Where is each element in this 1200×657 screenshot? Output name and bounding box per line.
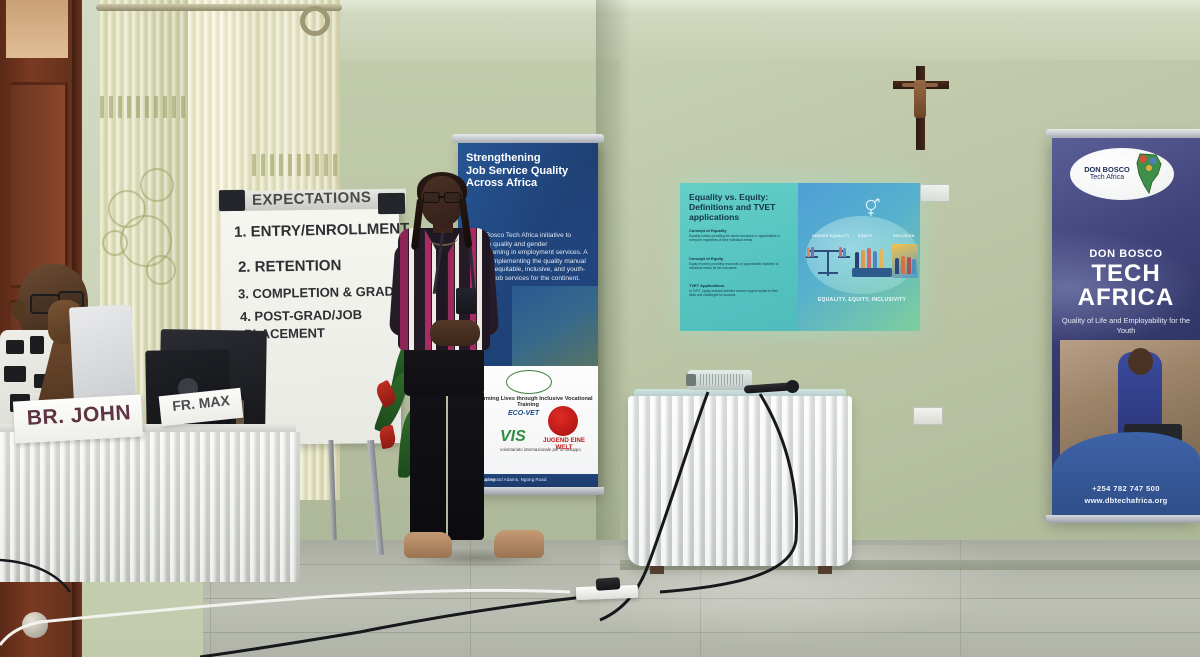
partner-logo-ecovet: ECO-VET <box>508 410 539 417</box>
door-panel-upper <box>8 82 68 288</box>
banner-left-title-2: Job Service Quality <box>466 165 594 178</box>
crucifix-corpus-arms <box>902 83 938 87</box>
partner-logo-vis: VIS <box>500 428 526 446</box>
projector-vent <box>700 374 744 385</box>
banner-left-top-rail <box>452 134 604 143</box>
presenter-leg-left <box>410 388 446 540</box>
slide-heading-3: TVET Applications <box>689 283 724 288</box>
wall-socket-lower[interactable] <box>913 407 943 425</box>
banner-right-headline-africa: AFRICA <box>1052 286 1200 310</box>
power-plug[interactable] <box>596 577 621 591</box>
logo-line-2: Tech Africa <box>1076 174 1138 181</box>
presenter-badge <box>456 288 476 314</box>
slide-heading-2: Concept of Equity <box>689 256 723 261</box>
slide-heading-1: Concept of Equality <box>689 228 727 233</box>
presenter-hands <box>430 320 480 346</box>
banner-right-headline-small: DON BOSCO <box>1052 248 1200 260</box>
microphone-head <box>786 380 799 393</box>
banner-left-address: Applewood Adams, Ngong Road <box>480 477 546 482</box>
participant-ear <box>12 300 26 320</box>
door-transom-window <box>6 0 68 58</box>
banner-right-website: www.dbtechafrica.org <box>1052 496 1200 505</box>
flipchart-line-2: 2. RETENTION <box>238 257 342 276</box>
curtain-rod-ring <box>300 6 330 36</box>
flipchart-clamp-left <box>219 190 245 211</box>
banner-right-phone: +254 782 747 500 <box>1052 484 1200 493</box>
photo-scene: EXPECTATIONS 1. ENTRY/ENROLLMENT 2. RETE… <box>0 0 1200 657</box>
banner-left-title: Strengthening Job Service Quality Across… <box>466 152 594 190</box>
slide-caption: EQUALITY, EQUITY, INCLUSIVITY <box>806 297 918 303</box>
slide-label-inclusion: INCLUSION <box>893 234 915 238</box>
banner-right-bottom-curve <box>1052 432 1200 521</box>
banner-right-headline-tech: TECH <box>1052 262 1200 286</box>
slide-body-1: Equality means providing the same resour… <box>689 234 785 243</box>
presenter-boot-left <box>404 532 452 558</box>
slide-equity-platform <box>852 268 892 277</box>
banner-right-base <box>1046 515 1200 523</box>
slide-title: Equality vs. Equity: Definitions and TVE… <box>689 192 793 222</box>
don-bosco-tech-logo-small <box>506 370 552 394</box>
partner-logo-jugend-label: JUGEND EINE WELT <box>540 437 588 452</box>
presenter-glasses <box>423 192 461 202</box>
slide-body-2: Equity involves providing resources or o… <box>689 262 785 271</box>
door-knob[interactable] <box>22 612 48 638</box>
presenter-boot-right <box>494 530 544 558</box>
africa-map-icon <box>1130 152 1168 196</box>
slide-label-equity: EQUITY <box>858 234 873 238</box>
flipchart-line-3: 3. COMPLETION & GRAD <box>238 284 394 302</box>
banner-right-top-rail <box>1046 129 1200 138</box>
projector-lens <box>686 374 696 386</box>
slide-body-3: In TVET, equity ensures learners receive… <box>689 289 785 298</box>
participant-table-pleats <box>0 432 300 582</box>
projector-table-skirt-pleats <box>628 396 852 566</box>
banner-right-tagline: Quality of Life and Employability for th… <box>1058 316 1194 335</box>
partner-logo-jugend-circle <box>548 406 578 436</box>
logo-line-1: DON BOSCO <box>1076 165 1138 174</box>
flipchart-line-4: 4. POST-GRAD/JOB <box>240 307 362 324</box>
ceiling-strip <box>300 0 1200 16</box>
banner-left-title-1: Strengthening <box>466 152 594 165</box>
banner-photo-person-head <box>1128 348 1153 375</box>
slide-label-gender-equality: GENDER EQUALITY <box>812 234 850 238</box>
presenter-leg-right <box>448 388 484 540</box>
banner-left-title-3: Across Africa <box>466 177 594 190</box>
venus-mars-icon <box>862 198 882 218</box>
